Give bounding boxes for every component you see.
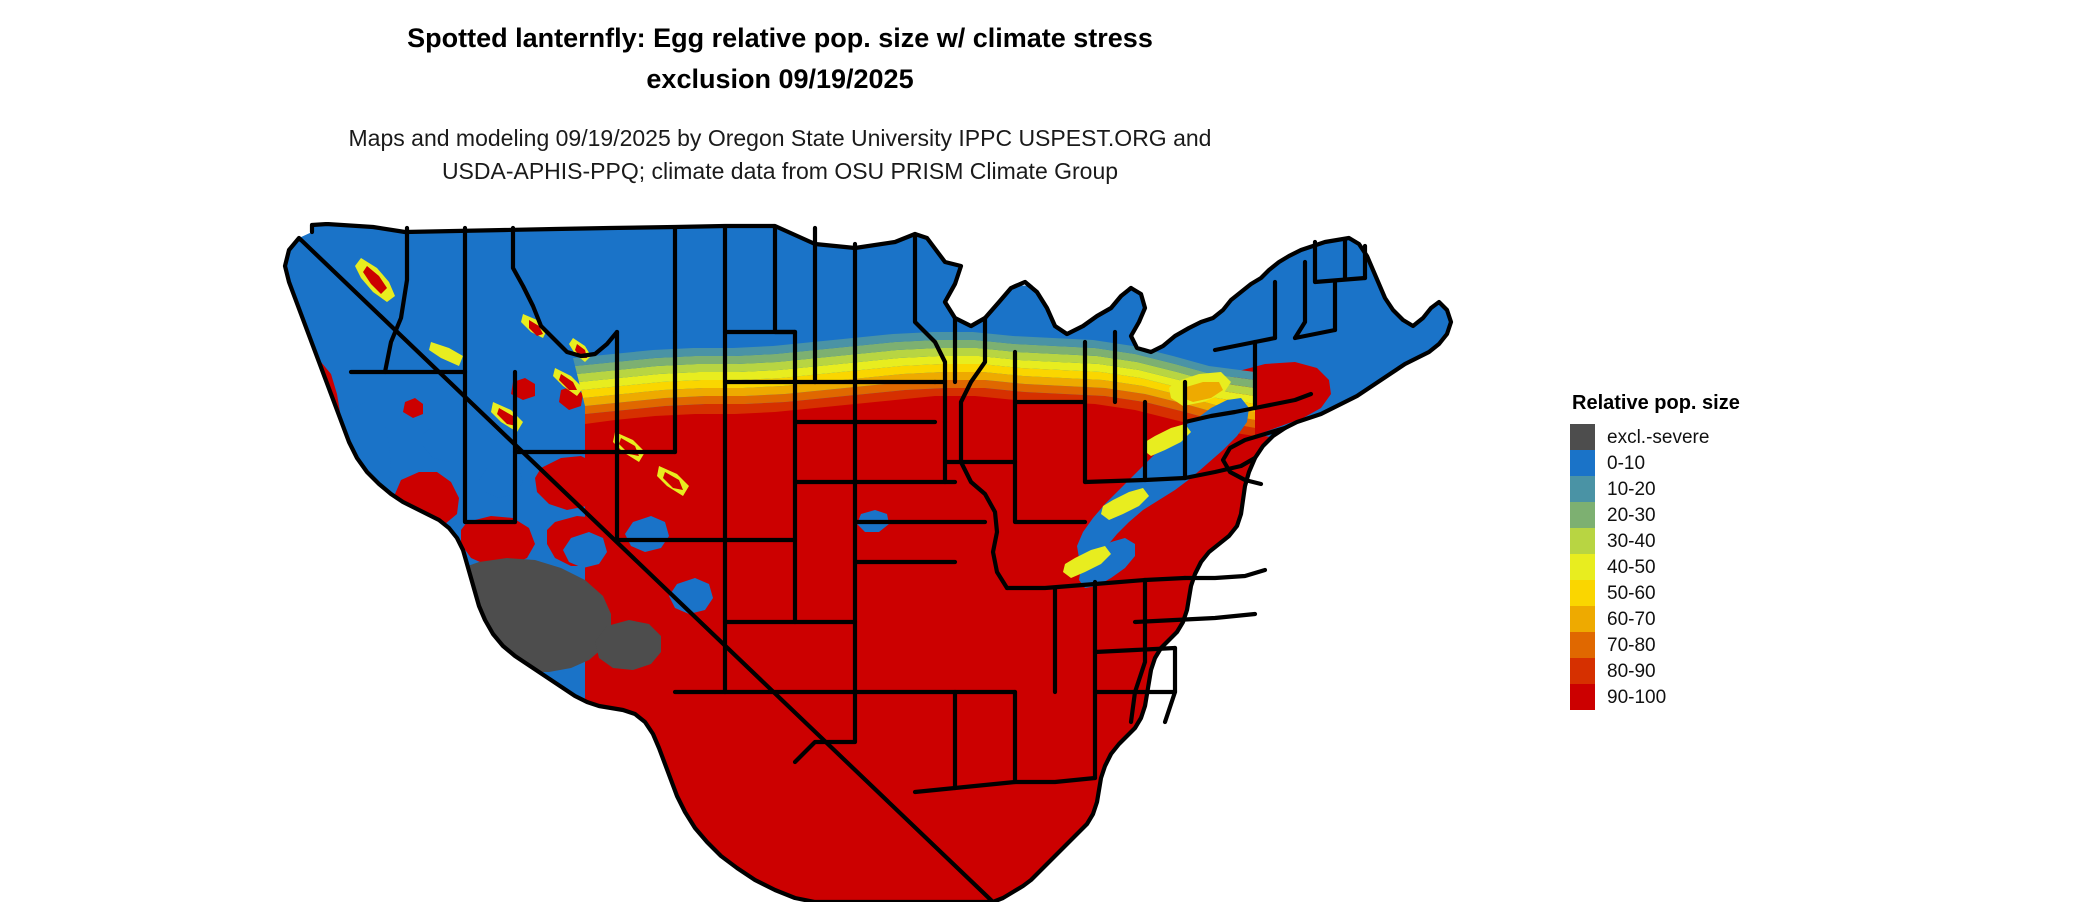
legend-label: excl.-severe xyxy=(1607,428,1709,447)
legend-label: 60-70 xyxy=(1607,610,1656,629)
legend-item: excl.-severe xyxy=(1570,424,1950,450)
legend-swatch xyxy=(1570,606,1595,632)
legend-swatch xyxy=(1570,450,1595,476)
legend-label: 30-40 xyxy=(1607,532,1656,551)
subtitle-line-2: USDA-APHIS-PPQ; climate data from OSU PR… xyxy=(0,155,1560,188)
choropleth-map xyxy=(255,222,1555,902)
us-map-svg xyxy=(255,222,1555,902)
legend-label: 80-90 xyxy=(1607,662,1656,681)
legend-label: 90-100 xyxy=(1607,688,1666,707)
legend-swatch xyxy=(1570,554,1595,580)
legend-label: 40-50 xyxy=(1607,558,1656,577)
legend-item: 60-70 xyxy=(1570,606,1950,632)
map-legend: Relative pop. size excl.-severe0-1010-20… xyxy=(1570,392,1950,710)
figure-root: Spotted lanternfly: Egg relative pop. si… xyxy=(0,0,2100,892)
legend-item: 80-90 xyxy=(1570,658,1950,684)
legend-item: 30-40 xyxy=(1570,528,1950,554)
legend-label: 70-80 xyxy=(1607,636,1656,655)
title-line-2: exclusion 09/19/2025 xyxy=(0,59,1560,100)
subtitle-line-1: Maps and modeling 09/19/2025 by Oregon S… xyxy=(0,122,1560,155)
legend-item: 0-10 xyxy=(1570,450,1950,476)
legend-items: excl.-severe0-1010-2020-3030-4040-5050-6… xyxy=(1570,424,1950,710)
legend-swatch xyxy=(1570,502,1595,528)
legend-item: 20-30 xyxy=(1570,502,1950,528)
legend-item: 50-60 xyxy=(1570,580,1950,606)
legend-label: 20-30 xyxy=(1607,506,1656,525)
legend-swatch xyxy=(1570,684,1595,710)
legend-swatch xyxy=(1570,424,1595,450)
page-title: Spotted lanternfly: Egg relative pop. si… xyxy=(0,18,1560,100)
legend-label: 0-10 xyxy=(1607,454,1645,473)
legend-swatch xyxy=(1570,632,1595,658)
legend-swatch xyxy=(1570,658,1595,684)
legend-swatch xyxy=(1570,580,1595,606)
subtitle: Maps and modeling 09/19/2025 by Oregon S… xyxy=(0,122,1560,188)
legend-item: 10-20 xyxy=(1570,476,1950,502)
legend-label: 50-60 xyxy=(1607,584,1656,603)
legend-label: 10-20 xyxy=(1607,480,1656,499)
legend-title: Relative pop. size xyxy=(1572,392,1950,415)
title-line-1: Spotted lanternfly: Egg relative pop. si… xyxy=(0,18,1560,59)
legend-item: 70-80 xyxy=(1570,632,1950,658)
legend-item: 90-100 xyxy=(1570,684,1950,710)
legend-item: 40-50 xyxy=(1570,554,1950,580)
legend-swatch xyxy=(1570,476,1595,502)
legend-swatch xyxy=(1570,528,1595,554)
